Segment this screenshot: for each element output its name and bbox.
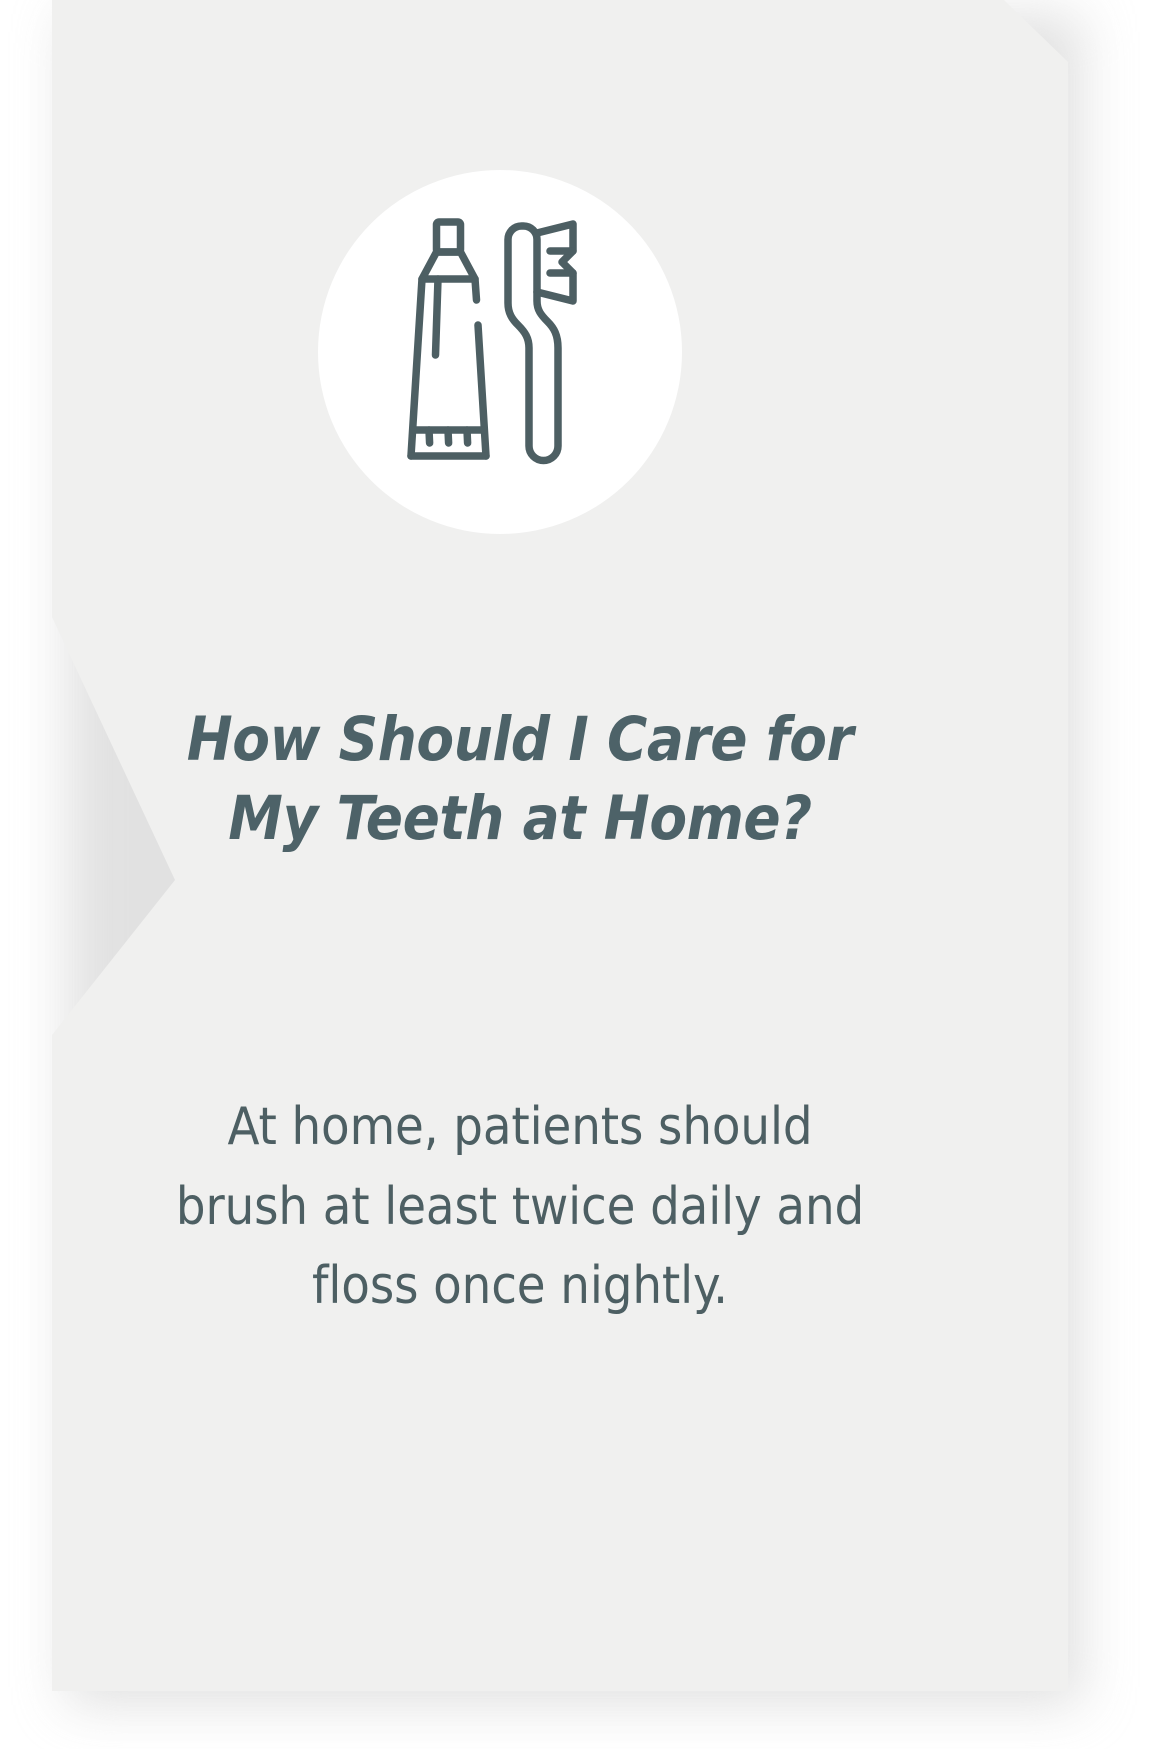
- page-title: How Should I Care for My Teeth at Home?: [120, 700, 920, 859]
- body-line-2: brush at least twice daily and: [100, 1168, 940, 1248]
- card-stage: How Should I Care for My Teeth at Home? …: [0, 0, 1152, 1749]
- body-line-3: floss once nightly.: [100, 1247, 940, 1327]
- toothpaste-and-toothbrush-icon: [404, 215, 596, 471]
- title-line-2: My Teeth at Home?: [120, 779, 920, 858]
- body-paragraph: At home, patients should brush at least …: [100, 1088, 940, 1327]
- body-line-1: At home, patients should: [100, 1088, 940, 1168]
- title-line-1: How Should I Care for: [120, 700, 920, 779]
